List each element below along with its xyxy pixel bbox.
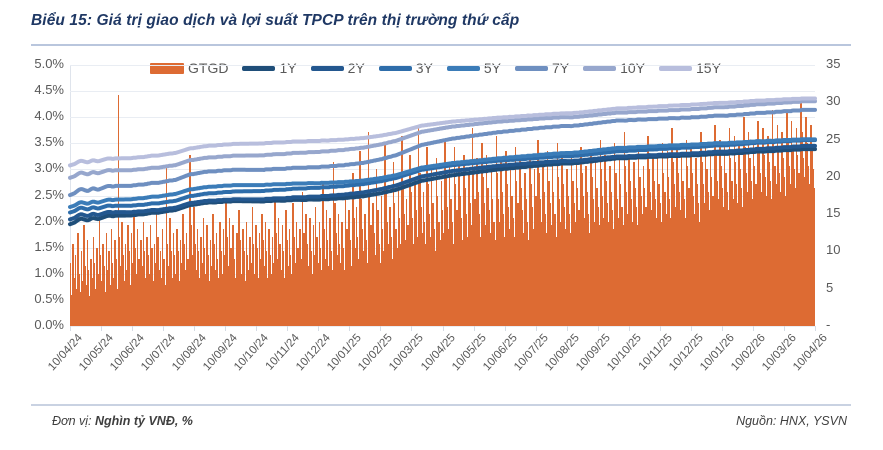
y-axis-tick-label: 3.5% bbox=[8, 134, 64, 149]
plot-area bbox=[70, 65, 815, 326]
x-axis-tick-mark bbox=[101, 326, 102, 331]
y-axis-tick-label: 1.5% bbox=[8, 239, 64, 254]
page-title: Biểu 15: Giá trị giao dịch và lợi suất T… bbox=[31, 12, 519, 30]
x-axis-tick-mark bbox=[536, 326, 537, 331]
line-series-1y bbox=[70, 149, 815, 224]
x-axis-tick-mark bbox=[380, 326, 381, 331]
y-axis-right-tick-label: - bbox=[826, 317, 866, 332]
x-axis-tick-mark bbox=[691, 326, 692, 331]
x-axis-tick-mark bbox=[784, 326, 785, 331]
x-axis-tick-mark bbox=[163, 326, 164, 331]
y-axis-right-tick-label: 30 bbox=[826, 93, 866, 108]
footer-unit-prefix: Đơn vị: bbox=[52, 414, 95, 428]
x-axis-tick-mark bbox=[505, 326, 506, 331]
chart-figure: Biểu 15: Giá trị giao dịch và lợi suất T… bbox=[0, 0, 883, 450]
y-axis-tick-label: 4.0% bbox=[8, 108, 64, 123]
x-axis-tick-mark bbox=[629, 326, 630, 331]
y-axis-right-tick-label: 20 bbox=[826, 168, 866, 183]
x-axis-tick-mark bbox=[318, 326, 319, 331]
x-axis-tick-mark bbox=[567, 326, 568, 331]
y-axis-tick-label: 2.0% bbox=[8, 213, 64, 228]
y-axis-tick-label: 1.0% bbox=[8, 265, 64, 280]
y-axis-right-tick-label: 15 bbox=[826, 205, 866, 220]
x-axis-tick-mark bbox=[722, 326, 723, 331]
x-axis-tick-mark bbox=[598, 326, 599, 331]
x-axis-tick-mark bbox=[225, 326, 226, 331]
y-axis-right-tick-label: 5 bbox=[826, 280, 866, 295]
footer-unit: Đơn vị: Nghìn tỷ VNĐ, % bbox=[52, 414, 193, 428]
x-axis-tick-mark bbox=[194, 326, 195, 331]
y-axis-tick-label: 0.0% bbox=[8, 317, 64, 332]
title-divider bbox=[31, 44, 851, 46]
x-axis-tick-mark bbox=[443, 326, 444, 331]
x-axis-tick-mark bbox=[753, 326, 754, 331]
y-axis-right-tick-label: 25 bbox=[826, 131, 866, 146]
y-axis-tick-label: 0.5% bbox=[8, 291, 64, 306]
y-axis-tick-label: 3.0% bbox=[8, 160, 64, 175]
x-axis-tick-mark bbox=[411, 326, 412, 331]
y-axis-right-tick-label: 35 bbox=[826, 56, 866, 71]
x-axis-tick-mark bbox=[349, 326, 350, 331]
line-series-layer bbox=[70, 65, 815, 326]
footer-divider bbox=[31, 404, 851, 406]
y-axis-tick-label: 2.5% bbox=[8, 187, 64, 202]
footer-source: Nguồn: HNX, YSVN bbox=[736, 414, 847, 428]
x-axis-tick-mark bbox=[256, 326, 257, 331]
footer-unit-value: Nghìn tỷ VNĐ, % bbox=[95, 414, 193, 428]
y-axis-right-tick-label: 10 bbox=[826, 242, 866, 257]
y-axis-tick-label: 5.0% bbox=[8, 56, 64, 71]
x-axis-tick-mark bbox=[815, 326, 816, 331]
x-axis-tick-mark bbox=[474, 326, 475, 331]
x-axis-tick-mark bbox=[660, 326, 661, 331]
x-axis-tick-mark bbox=[132, 326, 133, 331]
x-axis-tick-mark bbox=[287, 326, 288, 331]
x-axis-tick-mark bbox=[70, 326, 71, 331]
y-axis-tick-label: 4.5% bbox=[8, 82, 64, 97]
